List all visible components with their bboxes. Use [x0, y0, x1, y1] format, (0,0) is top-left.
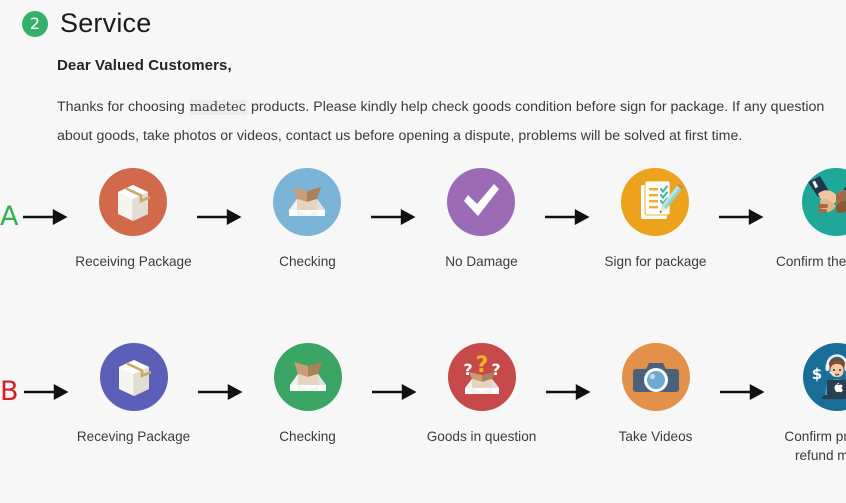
handshake-icon [802, 168, 846, 236]
salutation-text: Dear Valued Customers, [57, 57, 232, 74]
flow-step-label: No Damage [445, 252, 518, 271]
flow-step-b-2[interactable]: Checking [249, 343, 367, 446]
right-arrow-icon [541, 343, 597, 441]
flow-step-b-1[interactable]: Receving Package [75, 343, 193, 446]
right-arrow-icon [366, 168, 422, 266]
camera-icon [622, 343, 690, 411]
flow-step-label: Receiving Package [75, 252, 191, 271]
flow-step-b-3[interactable]: ? ? ? Goods in question [423, 343, 541, 446]
checkmark-icon [447, 168, 515, 236]
right-arrow-icon [192, 168, 248, 266]
intro-paragraph: Thanks for choosing madetec products. Pl… [57, 93, 832, 150]
flow-step-label: Checking [279, 427, 336, 446]
open-box-icon [274, 343, 342, 411]
right-arrow-icon [715, 343, 771, 441]
flow-step-label: Checking [279, 252, 336, 271]
section-number-badge: 2 [22, 11, 48, 37]
right-arrow-icon [540, 168, 596, 266]
brand-name: madetec [189, 100, 247, 115]
right-arrow-icon [18, 168, 74, 266]
right-arrow-icon [367, 343, 423, 441]
right-arrow-icon [193, 343, 249, 441]
flow-step-label: Goods in question [427, 427, 537, 446]
flow-row-a: A Receiving Package [0, 168, 846, 298]
flow-step-a-5[interactable]: Confirm the delivery [770, 168, 846, 271]
support-agent-icon: $ $ [803, 343, 846, 411]
sealed-package-icon [100, 343, 168, 411]
section-header: 2 Service [22, 8, 151, 39]
flow-step-label: Confirm the delivery [776, 252, 846, 271]
flow-letter-a: A [0, 168, 18, 266]
right-arrow-icon [19, 343, 75, 441]
question-box-icon: ? ? ? [448, 343, 516, 411]
flow-step-b-4[interactable]: Take Videos [597, 343, 715, 446]
flow-step-a-1[interactable]: Receiving Package [74, 168, 192, 271]
service-section: 2 Service Dear Valued Customers, Thanks … [0, 0, 846, 503]
sealed-package-icon [99, 168, 167, 236]
open-box-icon [273, 168, 341, 236]
right-arrow-icon [714, 168, 770, 266]
svg-text:$: $ [811, 365, 821, 383]
paragraph-text-before-brand: Thanks for choosing [57, 99, 189, 115]
flow-step-a-4[interactable]: Sign for package [596, 168, 714, 271]
flow-step-a-3[interactable]: No Damage [422, 168, 540, 271]
flow-step-a-2[interactable]: Checking [248, 168, 366, 271]
flow-step-label: Take Videos [619, 427, 693, 446]
flow-step-label: Receving Package [77, 427, 190, 446]
signed-document-icon [621, 168, 689, 236]
flow-step-b-5[interactable]: $ $ [771, 343, 846, 465]
flow-step-label: Sign for package [604, 252, 706, 271]
page-title: Service [60, 8, 151, 39]
flow-row-b: B Receving Package [0, 343, 846, 473]
flow-step-label: Confirm problem, refund money [784, 427, 846, 465]
flow-letter-b: B [0, 343, 19, 441]
